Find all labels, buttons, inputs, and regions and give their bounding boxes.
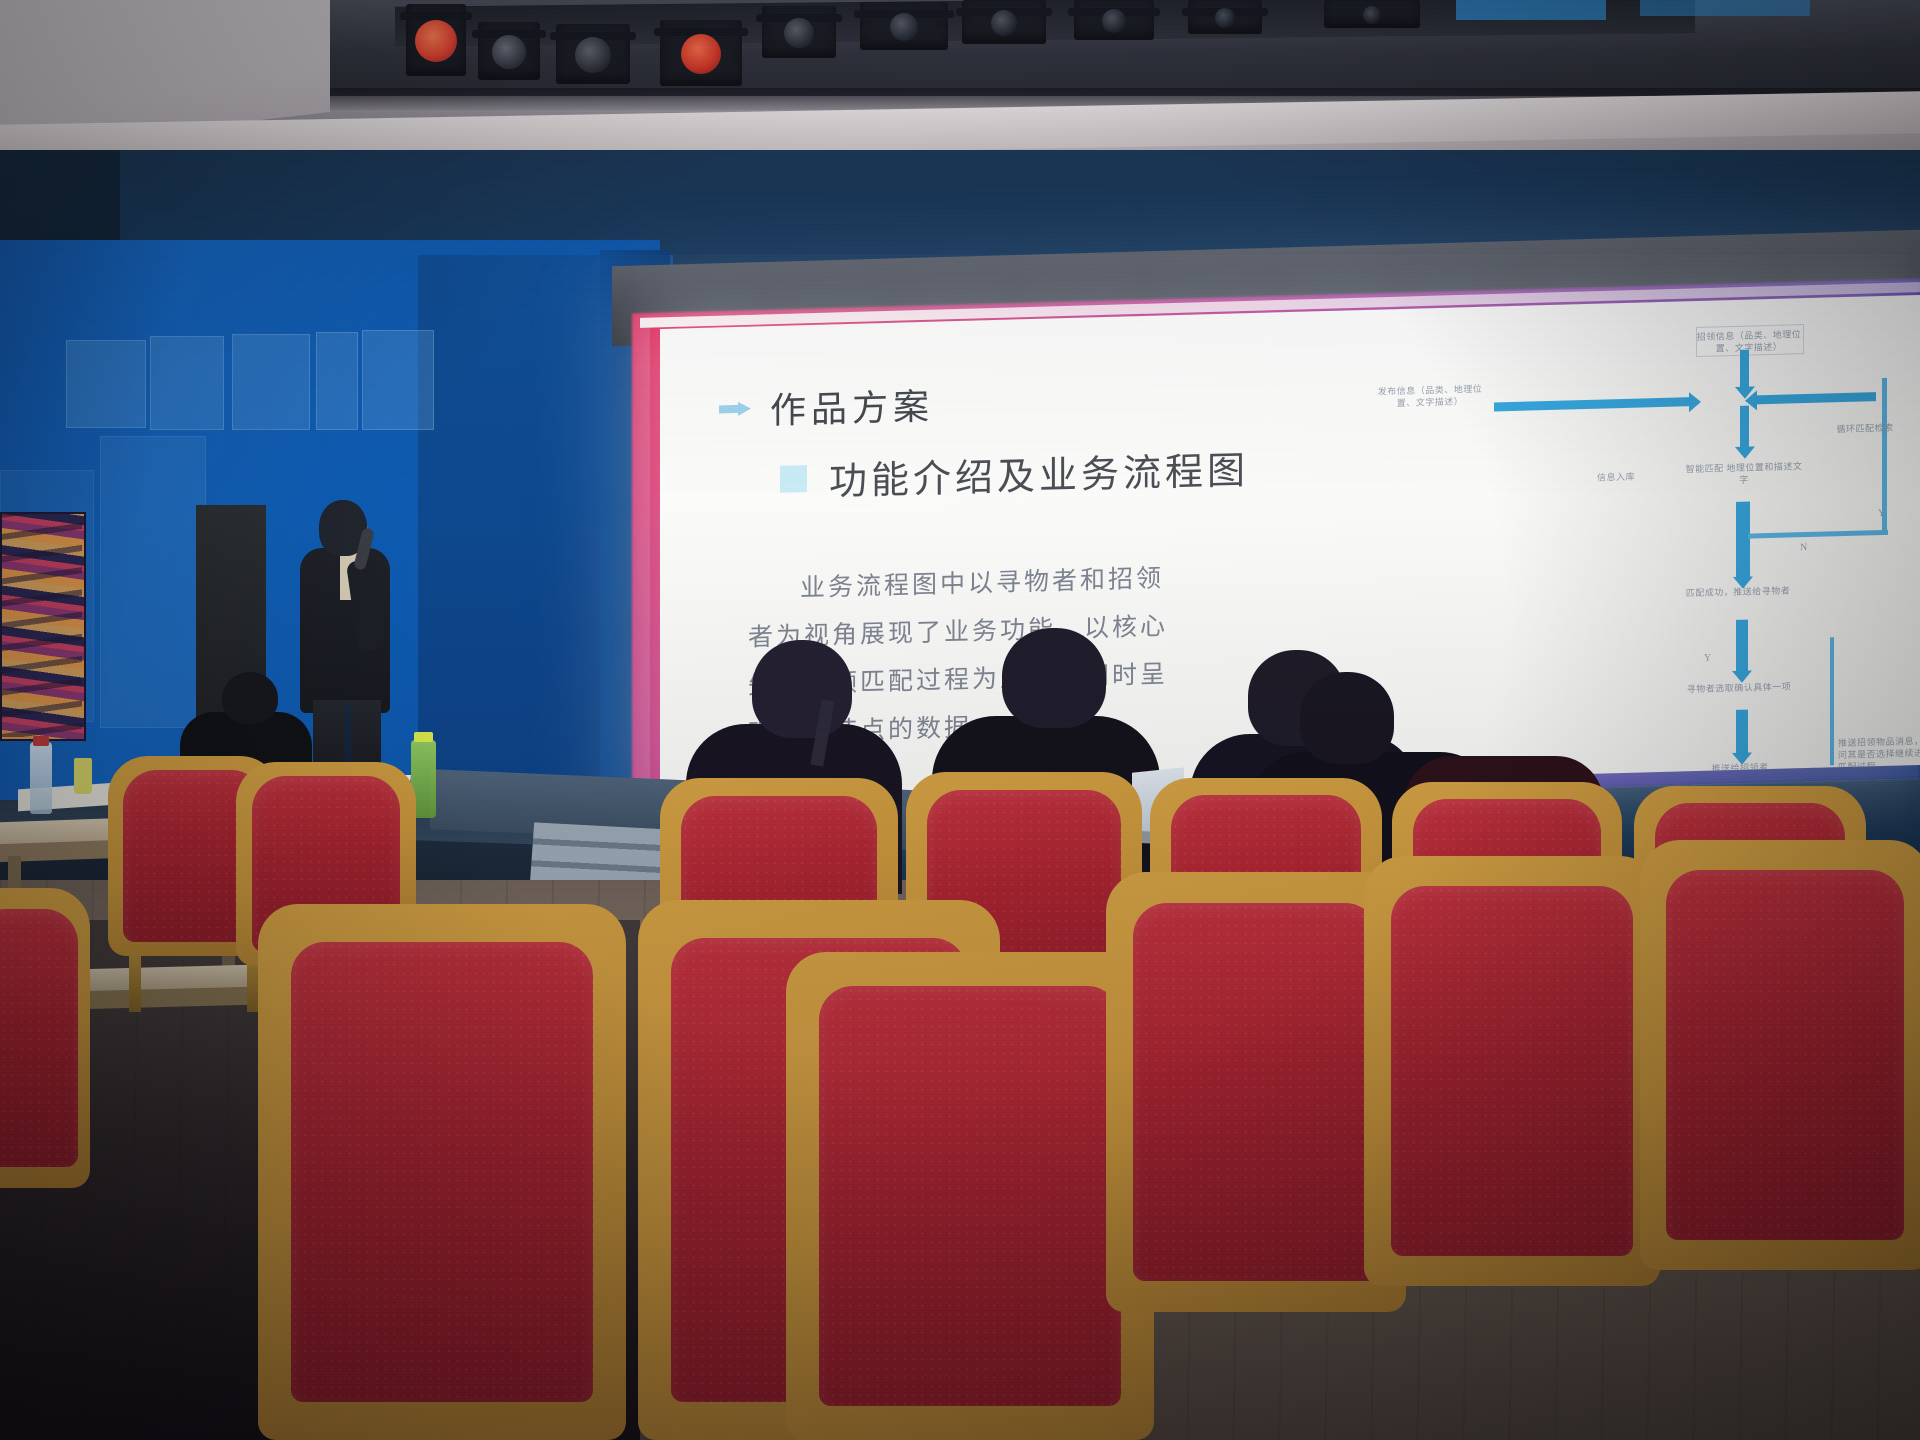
stage-light-fixture	[478, 22, 540, 80]
lamp-lens	[415, 20, 457, 62]
stage-light-fixture	[860, 2, 948, 50]
flow-node-label: 智能匹配 地理位置和描述文字	[1684, 460, 1804, 487]
stage-light-fixture	[660, 20, 742, 86]
stage-light-fixture	[406, 4, 466, 76]
presentation-hall-photo: 作品方案 功能介绍及业务流程图 业务流程图中以寻物者和招领者为视角展现了业务功能…	[0, 0, 1920, 1440]
chair-cushion	[1391, 886, 1634, 1256]
lamp-lens	[1102, 9, 1126, 33]
stage-light-fixture	[762, 6, 836, 58]
flow-node-label: 招领信息（品类、地理位置、文字描述）	[1696, 328, 1802, 355]
flow-node-label: 循环匹配检索	[1830, 421, 1900, 435]
chair-cushion	[0, 909, 78, 1167]
flow-node-label: 匹配成功，推送给寻物者	[1678, 584, 1798, 599]
chair-cushion	[1133, 903, 1379, 1281]
audience-head	[752, 640, 852, 738]
cyan-square-marker-icon	[780, 465, 807, 493]
slide-subtitle: 功能介绍及业务流程图	[829, 439, 1249, 505]
backdrop-glass-pane	[362, 330, 434, 430]
banquet-chair	[786, 952, 1154, 1440]
ceiling-light-panel	[1456, 0, 1606, 20]
lamp-lens	[1363, 6, 1381, 24]
flow-arrow-down	[1740, 406, 1749, 448]
stage-light-fixture	[1324, 0, 1420, 28]
flow-connector	[1830, 637, 1834, 765]
lamp-lens	[1215, 8, 1235, 28]
banquet-chair	[1364, 856, 1660, 1286]
lamp-yoke	[400, 12, 472, 20]
flow-node-label: 信息入库	[1582, 470, 1650, 484]
flow-arrow-down	[1736, 502, 1750, 578]
backdrop-glass-pane	[100, 436, 206, 728]
lamp-lens	[890, 13, 918, 41]
banquet-chair	[258, 904, 626, 1440]
lamp-lens	[681, 34, 721, 74]
audience-head	[1002, 628, 1106, 728]
green-bottle-cap	[414, 732, 433, 742]
lamp-lens	[784, 18, 814, 48]
lamp-lens	[991, 10, 1017, 36]
lamp-lens	[492, 35, 526, 69]
flow-branch-label-y: Y	[1704, 653, 1711, 664]
slide-title: 作品方案	[770, 378, 934, 434]
water-bottle-cap	[33, 736, 49, 746]
backdrop-glass-pane	[316, 332, 358, 430]
stage-light-fixture	[1188, 0, 1262, 34]
backdrop-glass-pane	[66, 340, 146, 428]
flow-branch-label-y: Y	[1878, 508, 1885, 519]
seated-judge-head	[222, 672, 278, 724]
lamp-lens	[575, 37, 611, 73]
banquet-chair	[1640, 840, 1920, 1270]
stage-light-fixture	[962, 0, 1046, 44]
slide-subtitle-row: 功能介绍及业务流程图	[780, 439, 1249, 507]
flow-arrow-down	[1736, 710, 1748, 754]
audience-head	[1300, 672, 1394, 764]
flow-arrow-down	[1736, 620, 1748, 672]
tapestry-shading	[0, 512, 82, 737]
business-flowchart: 招领信息（品类、地理位置、文字描述） 发布信息（品类、地理位置、文字描述） 智能…	[1360, 305, 1900, 790]
stage-light-fixture	[556, 24, 630, 84]
chair-cushion	[291, 942, 593, 1403]
backdrop-glass-pane	[232, 334, 310, 430]
ceiling-light-panel	[1640, 0, 1810, 16]
flow-branch-label-n: N	[1800, 542, 1807, 553]
chair-cushion	[819, 986, 1121, 1406]
flow-arrow-right	[1494, 397, 1690, 411]
slide-title-row: 作品方案	[718, 378, 934, 436]
water-bottle	[30, 742, 52, 814]
chair-cushion	[1666, 870, 1904, 1240]
blue-arrow-icon	[718, 401, 752, 418]
stage-light-fixture	[1074, 0, 1154, 40]
flow-arrow-left	[1756, 392, 1876, 404]
paper-cup	[74, 758, 92, 794]
flow-node-label: 寻物者选取确认具体一项	[1674, 680, 1804, 696]
flow-arrow-down	[1740, 350, 1749, 388]
banquet-chair	[1106, 872, 1406, 1312]
banquet-chair	[0, 888, 90, 1188]
flow-connector	[1748, 530, 1888, 539]
backdrop-glass-pane	[150, 336, 224, 430]
flow-node-label: 发布信息（品类、地理位置、文字描述）	[1372, 383, 1488, 410]
